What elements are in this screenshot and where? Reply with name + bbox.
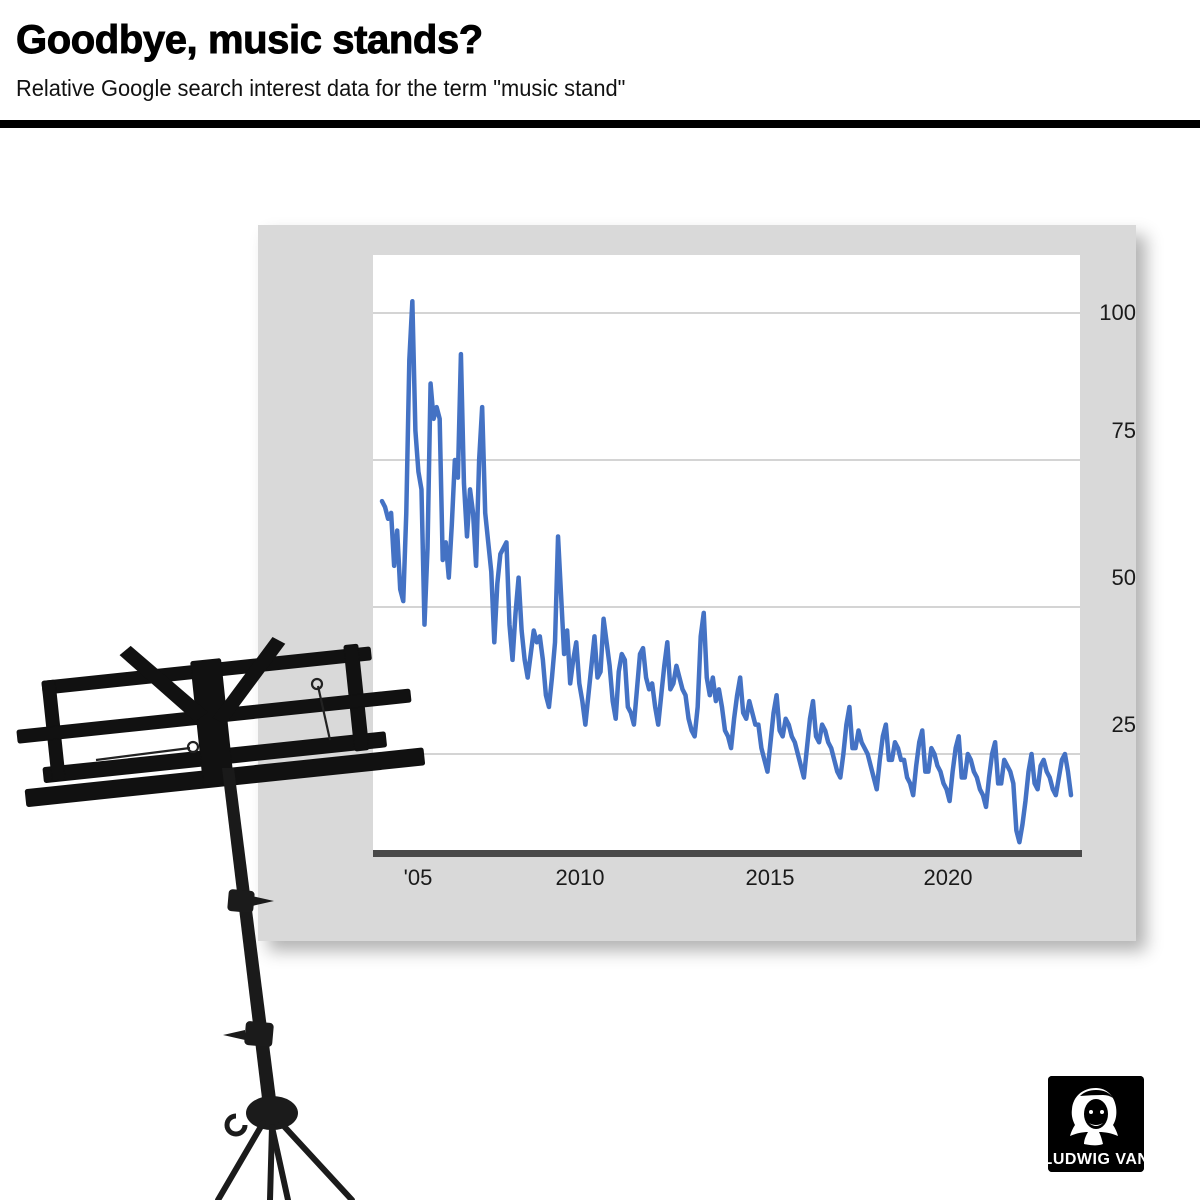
x-tick-label: 2015	[746, 865, 795, 891]
page-subtitle: Relative Google search interest data for…	[16, 74, 625, 102]
x-axis-line	[373, 850, 1082, 857]
x-tick-label: 2020	[924, 865, 973, 891]
data-line	[382, 301, 1071, 842]
page-title: Goodbye, music stands?	[16, 18, 483, 62]
infographic-page: Goodbye, music stands? Relative Google s…	[0, 0, 1200, 1200]
x-tick-label: 2010	[556, 865, 605, 891]
header: Goodbye, music stands? Relative Google s…	[0, 0, 1200, 128]
header-divider	[0, 120, 1200, 128]
beethoven-portrait-icon: LUDWIG VAN	[1048, 1076, 1144, 1172]
series-chart	[373, 255, 1080, 852]
plot-area	[373, 255, 1080, 852]
logo-wordmark: LUDWIG VAN	[1048, 1151, 1144, 1168]
brand-logo[interactable]: LUDWIG VAN	[1048, 1076, 1144, 1172]
music-stand-illustration	[0, 600, 460, 1200]
